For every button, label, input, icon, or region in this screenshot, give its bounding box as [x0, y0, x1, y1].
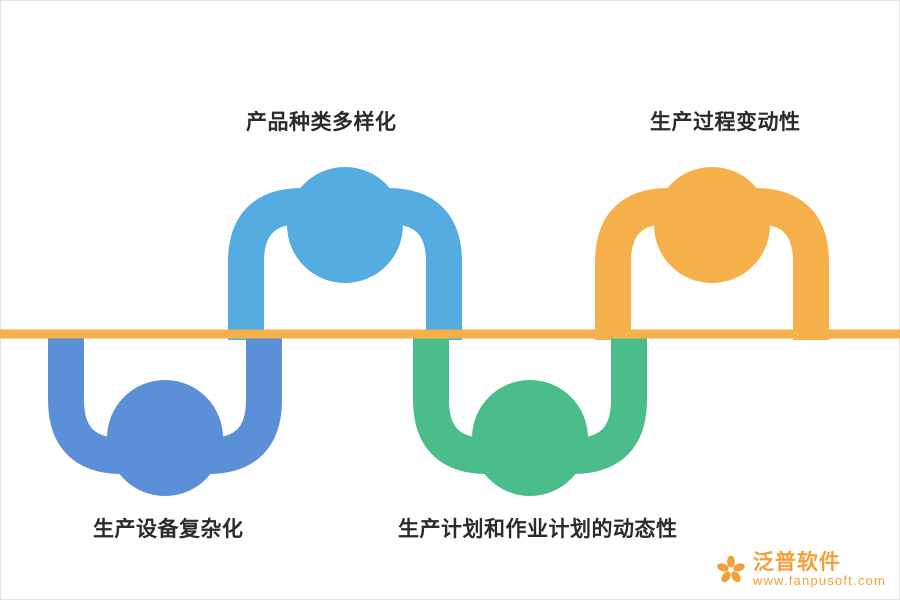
watermark-text: 泛普软件 www.fanpusoft.com [753, 552, 886, 588]
node-label-prod-variety: 产品种类多样化 [246, 106, 397, 136]
watermark: 泛普软件 www.fanpusoft.com [716, 552, 886, 588]
watermark-site: www.fanpusoft.com [753, 574, 886, 588]
node-label-plan-dynamics: 生产计划和作业计划的动态性 [398, 513, 678, 543]
node-circle-prod-variety[interactable] [287, 167, 403, 283]
node-circle-plan-dynamics[interactable] [472, 380, 588, 496]
flower-logo-icon [716, 555, 746, 585]
node-circle-process-variability[interactable] [654, 167, 770, 283]
watermark-brand: 泛普软件 [753, 552, 886, 574]
node-label-equipment-complexity: 生产设备复杂化 [93, 513, 244, 543]
node-circle-equipment-complexity[interactable] [107, 380, 223, 496]
node-label-process-variability: 生产过程变动性 [650, 106, 801, 136]
wave-node-diagram [0, 0, 900, 600]
diagram-canvas: 产品种类多样化 生产过程变动性 生产设备复杂化 生产计划和作业计划的动态性 泛普… [0, 0, 900, 600]
